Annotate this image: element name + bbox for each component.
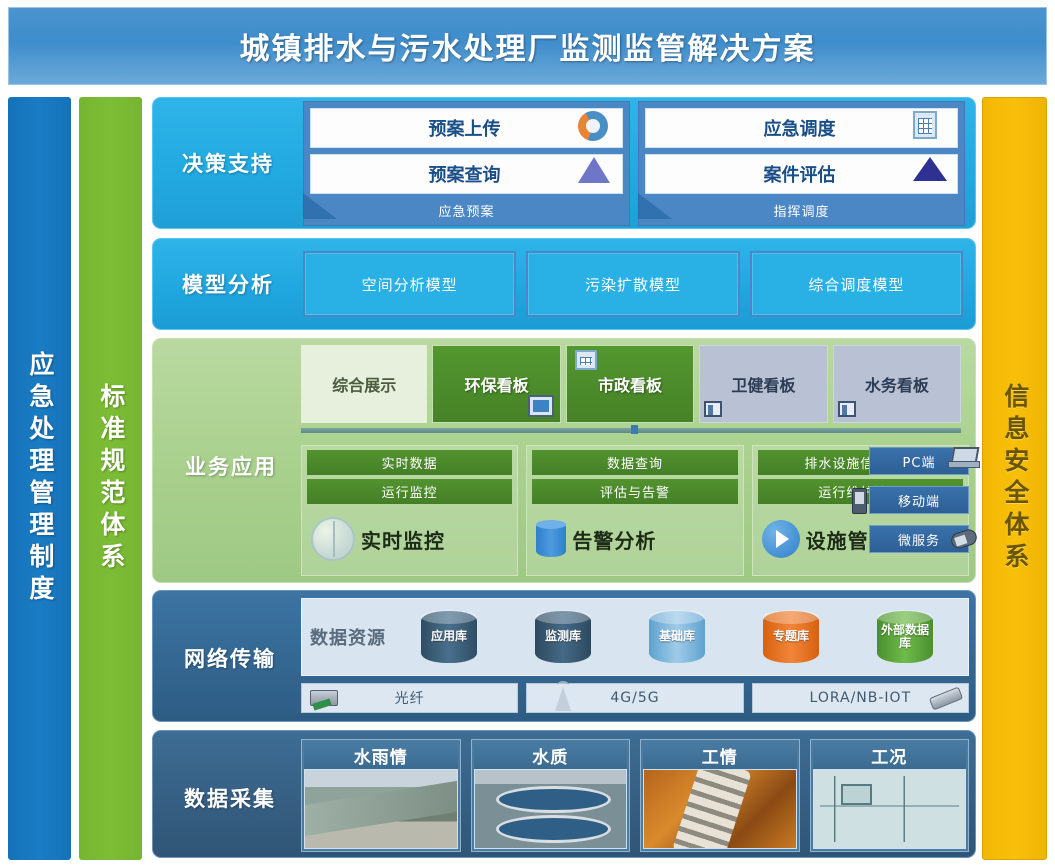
database-thematic-label: 专题库 [773,630,809,643]
monitor-icon [528,395,554,417]
data-resources-panel: 数据资源 应用库 监测库 基础库 专题库 [301,598,969,676]
card-plan-query-label: 预案查询 [321,161,578,187]
client-channels: PC端 移动端 微服务 [869,447,969,553]
river-embankment-photo [304,769,458,849]
mobile-device-icon [949,527,979,550]
database-external[interactable]: 外部数据库 [850,611,960,663]
arrow-notch-icon [303,193,337,219]
globe-icon [311,517,355,561]
window-mini-icon [838,401,856,417]
dashboard-cell-health[interactable]: 卫健看板 [699,345,827,423]
pyramid-icon [578,157,612,191]
grid-icon [913,111,947,145]
network-link-fiber[interactable]: 光纤 [301,683,518,713]
window-mini-icon [704,401,722,417]
channel-microservice-label: 微服务 [898,530,940,549]
cylinder-icon: 应用库 [421,611,477,663]
layer-data-collection-label: 数据采集 [159,783,301,813]
dashboard-row: 综合展示 环保看板 市政看板 卫健看板 水务看板 [301,345,961,423]
collection-card-water-quality-title: 水质 [474,742,628,769]
database-external-label: 外部数据库 [877,624,933,650]
cylinder-icon: 监测库 [535,611,591,663]
card-plan-upload[interactable]: 预案上传 [310,108,623,148]
laptop-icon [948,447,978,467]
layer-business-application-label: 业务应用 [161,451,301,481]
collection-card-water-rain[interactable]: 水雨情 [301,739,461,852]
channel-pc[interactable]: PC端 [869,447,969,475]
card-case-assessment-label: 案件评估 [656,161,913,187]
layer-data-collection: 数据采集 水雨情 水质 工情 工况 [152,730,976,858]
title-banner: 城镇排水与污水处理厂监测监管解决方案 [8,7,1047,85]
network-link-cellular[interactable]: 4G/5G [526,683,743,713]
phone-icon [852,488,867,514]
page-title: 城镇排水与污水处理厂监测监管解决方案 [240,24,816,68]
collection-cards: 水雨情 水质 工情 工况 [301,739,969,852]
cylinder-icon: 专题库 [763,611,819,663]
card-plan-query[interactable]: 预案查询 [310,154,623,194]
tower-icon [555,687,571,711]
business-feature-realtime-monitoring[interactable]: 实时监控 [307,508,512,570]
database-app[interactable]: 应用库 [394,611,504,663]
dashboard-cell-municipal[interactable]: 市政看板 [566,345,694,423]
window-icon [575,350,597,370]
dashboard-cell-health-label: 卫健看板 [731,372,795,396]
layer-model-analysis-label: 模型分析 [153,269,303,299]
channel-microservice[interactable]: 微服务 [869,525,969,553]
dashboard-cell-water-affairs-label: 水务看板 [865,372,929,396]
collection-card-operating-condition-title: 工况 [813,742,967,769]
model-box-group: 空间分析模型 污染扩散模型 综合调度模型 [303,251,975,317]
business-column-alarm: 数据查询 评估与告警 告警分析 [526,445,743,576]
fiber-icon [310,690,338,706]
layer-decision-support-label: 决策支持 [153,148,303,178]
card-case-assessment[interactable]: 案件评估 [645,154,958,194]
biz-pill-data-query[interactable]: 数据查询 [532,450,737,475]
data-resources-title: 数据资源 [310,624,390,650]
cylinder-icon: 基础库 [649,611,705,663]
pillar-standards-system: 标准规范体系 [79,97,142,860]
arrow-notch-icon [638,193,672,219]
network-link-fiber-label: 光纤 [395,688,425,708]
business-column-monitoring: 实时数据 运行监控 实时监控 [301,445,518,576]
layer-decision-support: 决策支持 预案上传 预案查询 应急预案 应急调度 [152,97,976,229]
group-emergency-plan: 预案上传 预案查询 应急预案 [303,101,630,226]
cycle-icon [578,111,612,145]
dashboard-cell-overview[interactable]: 综合展示 [301,345,427,423]
dashboard-cell-water-affairs[interactable]: 水务看板 [833,345,961,423]
database-monitoring[interactable]: 监测库 [508,611,618,663]
network-link-cellular-label: 4G/5G [610,690,659,706]
database-monitoring-label: 监测库 [545,630,581,643]
card-plan-upload-label: 预案上传 [321,115,578,141]
decision-support-groups: 预案上传 预案查询 应急预案 应急调度 案件评估 [303,101,975,226]
business-feature-realtime-monitoring-label: 实时监控 [361,525,445,554]
dashboard-cell-municipal-label: 市政看板 [598,372,662,396]
business-feature-alarm-analysis[interactable]: 告警分析 [532,508,737,570]
channel-mobile-label: 移动端 [898,491,940,510]
architecture-stack: 决策支持 预案上传 预案查询 应急预案 应急调度 [152,97,976,860]
layer-network-transmission: 网络传输 数据资源 应用库 监测库 基础库 专题库 [152,590,976,722]
database-basic-label: 基础库 [659,630,695,643]
play-circle-icon [762,520,800,558]
dashboard-cell-environment-label: 环保看板 [465,372,529,396]
network-link-lora-label: LORA/NB-IOT [810,690,912,706]
business-feature-alarm-analysis-label: 告警分析 [572,525,656,554]
pillar-information-security: 信息安全体系 [982,97,1047,860]
pyramid-3d-icon [913,157,947,191]
database-icon [536,521,566,557]
layer-business-application: 业务应用 综合展示 环保看板 市政看板 卫健看板 水务看板 [152,338,976,583]
collection-card-engineering-status[interactable]: 工情 [640,739,800,852]
pillar-standards-system-label: 标准规范体系 [96,383,125,575]
group-command-dispatch: 应急调度 案件评估 指挥调度 [638,101,965,226]
biz-pill-realtime-data[interactable]: 实时数据 [307,450,512,475]
collection-card-operating-condition[interactable]: 工况 [810,739,970,852]
network-link-lora[interactable]: LORA/NB-IOT [752,683,969,713]
database-app-label: 应用库 [431,630,467,643]
buried-pipeline-photo [643,769,797,849]
pillar-emergency-management-label: 应急处理管理制度 [25,351,54,607]
scada-schematic-photo [813,769,967,849]
group-command-dispatch-caption: 指挥调度 [645,200,958,223]
collection-card-water-quality[interactable]: 水质 [471,739,631,852]
cylinder-icon: 外部数据库 [877,611,933,663]
pillar-emergency-management: 应急处理管理制度 [8,97,71,860]
biz-pill-operation-monitoring[interactable]: 运行监控 [307,479,512,504]
card-emergency-dispatch-label: 应急调度 [656,115,913,141]
database-thematic[interactable]: 专题库 [736,611,846,663]
group-emergency-plan-caption: 应急预案 [310,200,623,223]
collection-card-engineering-status-title: 工情 [643,742,797,769]
dashboard-divider [301,428,961,433]
network-links: 光纤 4G/5G LORA/NB-IOT [301,683,969,713]
model-box-spatial[interactable]: 空间分析模型 [303,251,516,317]
sensor-icon [929,686,964,710]
collection-card-water-rain-title: 水雨情 [304,742,458,769]
channel-mobile[interactable]: 移动端 [869,486,969,514]
layer-network-transmission-label: 网络传输 [159,643,301,673]
sedimentation-tanks-photo [474,769,628,849]
channel-pc-label: PC端 [903,452,936,471]
layer-model-analysis: 模型分析 空间分析模型 污染扩散模型 综合调度模型 [152,238,976,330]
dashboard-cell-environment[interactable]: 环保看板 [432,345,560,423]
model-box-integrated-dispatch[interactable]: 综合调度模型 [750,251,963,317]
model-box-pollution-diffusion[interactable]: 污染扩散模型 [526,251,739,317]
biz-pill-assessment-alarm[interactable]: 评估与告警 [532,479,737,504]
pillar-information-security-label: 信息安全体系 [1000,383,1029,575]
card-emergency-dispatch[interactable]: 应急调度 [645,108,958,148]
dashboard-group: 综合展示 环保看板 市政看板 卫健看板 水务看板 [301,345,961,433]
database-basic[interactable]: 基础库 [622,611,732,663]
